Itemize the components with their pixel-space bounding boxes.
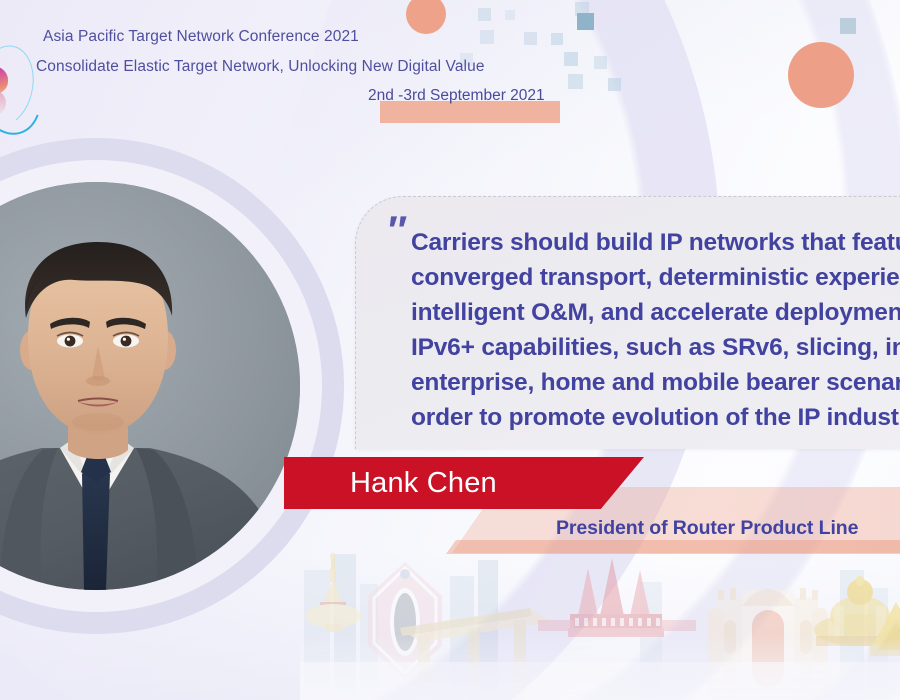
conference-logo [0,38,36,132]
conference-date-wrap: 2nd -3rd September 2021 [36,87,596,121]
decorative-square [840,18,856,34]
header-block: Asia Pacific Target Network Conference 2… [36,28,596,121]
decorative-square [505,10,515,20]
quote-card-inner: ″ Carriers should build IP networks that… [356,197,900,449]
speaker-portrait [0,138,344,634]
role-peach-underline [446,540,900,554]
portrait-image [0,182,300,590]
speaker-name: Hank Chen [350,467,497,500]
conference-subtitle: Consolidate Elastic Target Network, Unlo… [36,58,596,76]
decorative-square [608,78,621,91]
quote-card: ″ Carriers should build IP networks that… [355,196,900,449]
speaker-role: President of Router Product Line [556,517,858,540]
coral-circle-large [788,42,854,108]
conference-date: 2nd -3rd September 2021 [368,87,545,105]
slide-canvas: Asia Pacific Target Network Conference 2… [0,0,900,700]
quote-text: Carriers should build IP networks that f… [411,225,900,435]
quote-mark-icon: ″ [386,211,403,251]
portrait-photo-frame [0,182,300,590]
conference-title: Asia Pacific Target Network Conference 2… [36,28,596,46]
speaker-name-ribbon: Hank Chen [284,457,644,509]
decorative-square [478,8,491,21]
